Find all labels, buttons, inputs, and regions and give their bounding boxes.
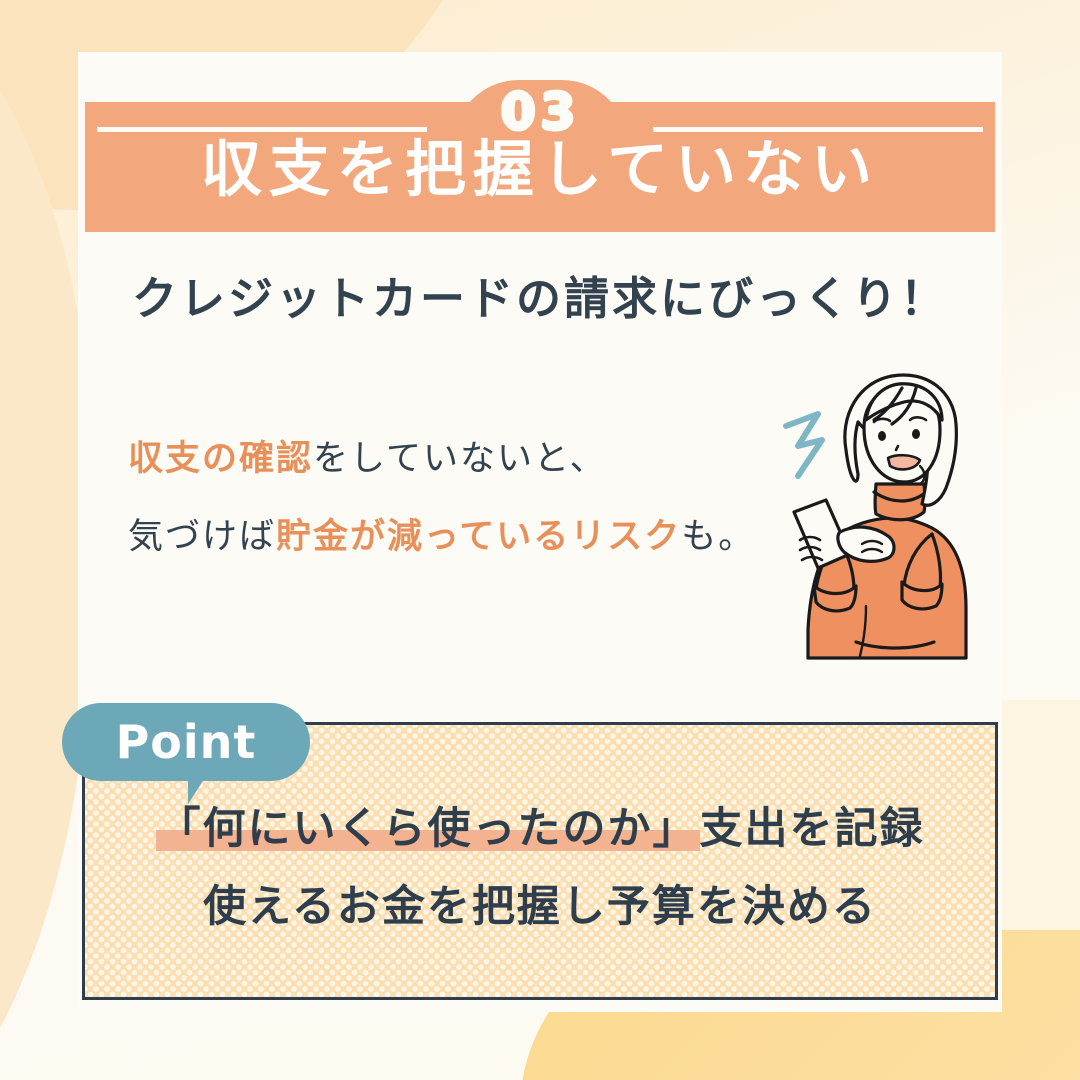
body-plain-1: をしていないと、 bbox=[313, 439, 607, 479]
body-line-1: 収支の確認をしていないと、 bbox=[128, 420, 788, 498]
point-line-1-rest: 支出を記録 bbox=[700, 804, 925, 854]
header-banner: 03 収支を把握していない bbox=[85, 80, 995, 232]
eye-left bbox=[878, 431, 886, 441]
body-plain-2a: 気づけば bbox=[128, 517, 276, 557]
subtitle: クレジットカードの請求にびっくり！ bbox=[85, 262, 995, 327]
body-highlight-1: 収支の確認 bbox=[128, 439, 313, 479]
eye-right bbox=[912, 429, 920, 439]
body-line-2: 気づけば貯金が減っているリスクも。 bbox=[128, 498, 788, 576]
body-copy: 収支の確認をしていないと、 気づけば貯金が減っているリスクも。 bbox=[128, 420, 788, 576]
point-line-2: 使えるお金を把握し予算を決める bbox=[82, 868, 998, 946]
body-plain-2b: も。 bbox=[681, 517, 755, 557]
point-bubble-label: Point bbox=[62, 703, 310, 781]
shock-zigzag-icon bbox=[786, 414, 822, 476]
body-highlight-2: 貯金が減っているリスク bbox=[276, 517, 681, 557]
mouth bbox=[888, 455, 920, 469]
section-title: 収支を把握していない bbox=[85, 126, 995, 214]
point-marked-phrase: 「何にいくら使ったのか」 bbox=[156, 804, 700, 854]
infographic-slide: 03 収支を把握していない クレジットカードの請求にびっくり！ 収支の確認をして… bbox=[0, 0, 1080, 1080]
illustration-surprised-woman bbox=[770, 358, 1010, 663]
point-text: 「何にいくら使ったのか」支出を記録 使えるお金を把握し予算を決める bbox=[82, 790, 998, 946]
